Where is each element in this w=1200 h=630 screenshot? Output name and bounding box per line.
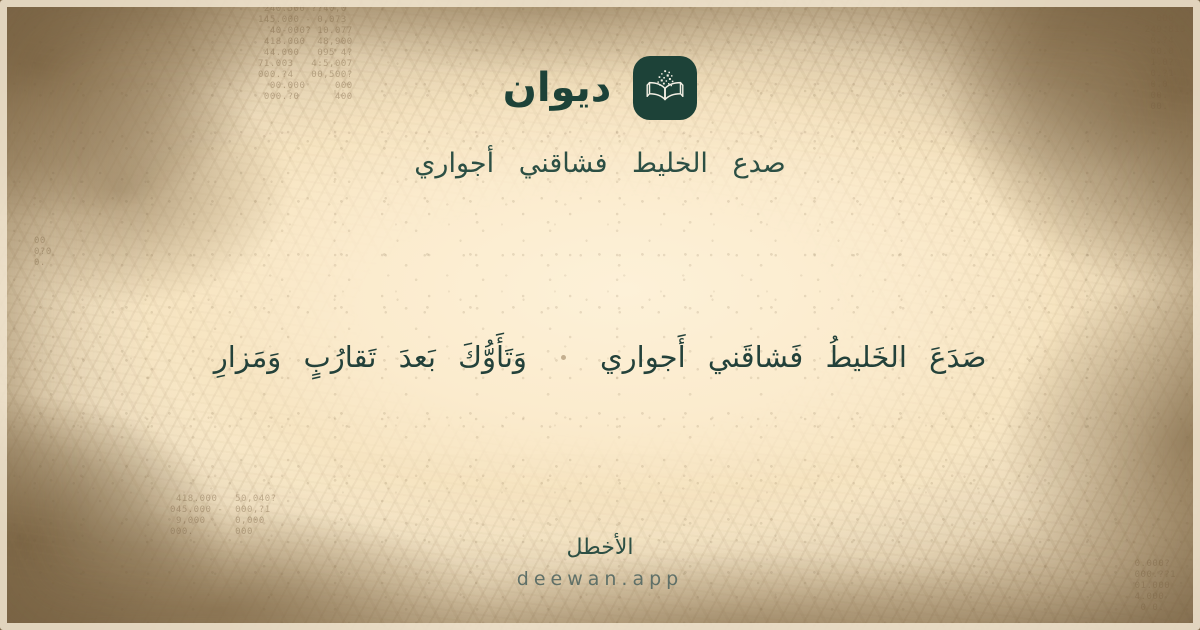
hemistich-second: وَتَأَوُّكَ بَعدَ تَقارُبٍ وَمَزارِ [214, 334, 561, 380]
brand-name: ديوان [503, 68, 611, 108]
hemistich-separator-dot [561, 355, 566, 360]
hemistich-first: صَدَعَ الخَليطُ فَشاقَني أَجواري [566, 334, 986, 380]
poem-share-card: 40,0?? 240.500 0,073 - 145.000 10.077 ?4… [0, 0, 1200, 630]
card-footer: الأخطل deewan.app [517, 536, 683, 590]
card-content: ديوان صدع الخليط فشاقني أجواري صَدَعَ ال… [0, 0, 1200, 630]
poet-name: الأخطل [567, 536, 634, 560]
site-url: deewan.app [517, 569, 683, 590]
poem-title: صدع الخليط فشاقني أجواري [414, 148, 785, 179]
verse-block: صَدَعَ الخَليطُ فَشاقَني أَجواري وَتَأَو… [70, 179, 1130, 536]
brand-header: ديوان [503, 56, 697, 120]
verse-line: صَدَعَ الخَليطُ فَشاقَني أَجواري وَتَأَو… [70, 334, 1130, 380]
open-book-sparkles-icon [633, 56, 697, 120]
